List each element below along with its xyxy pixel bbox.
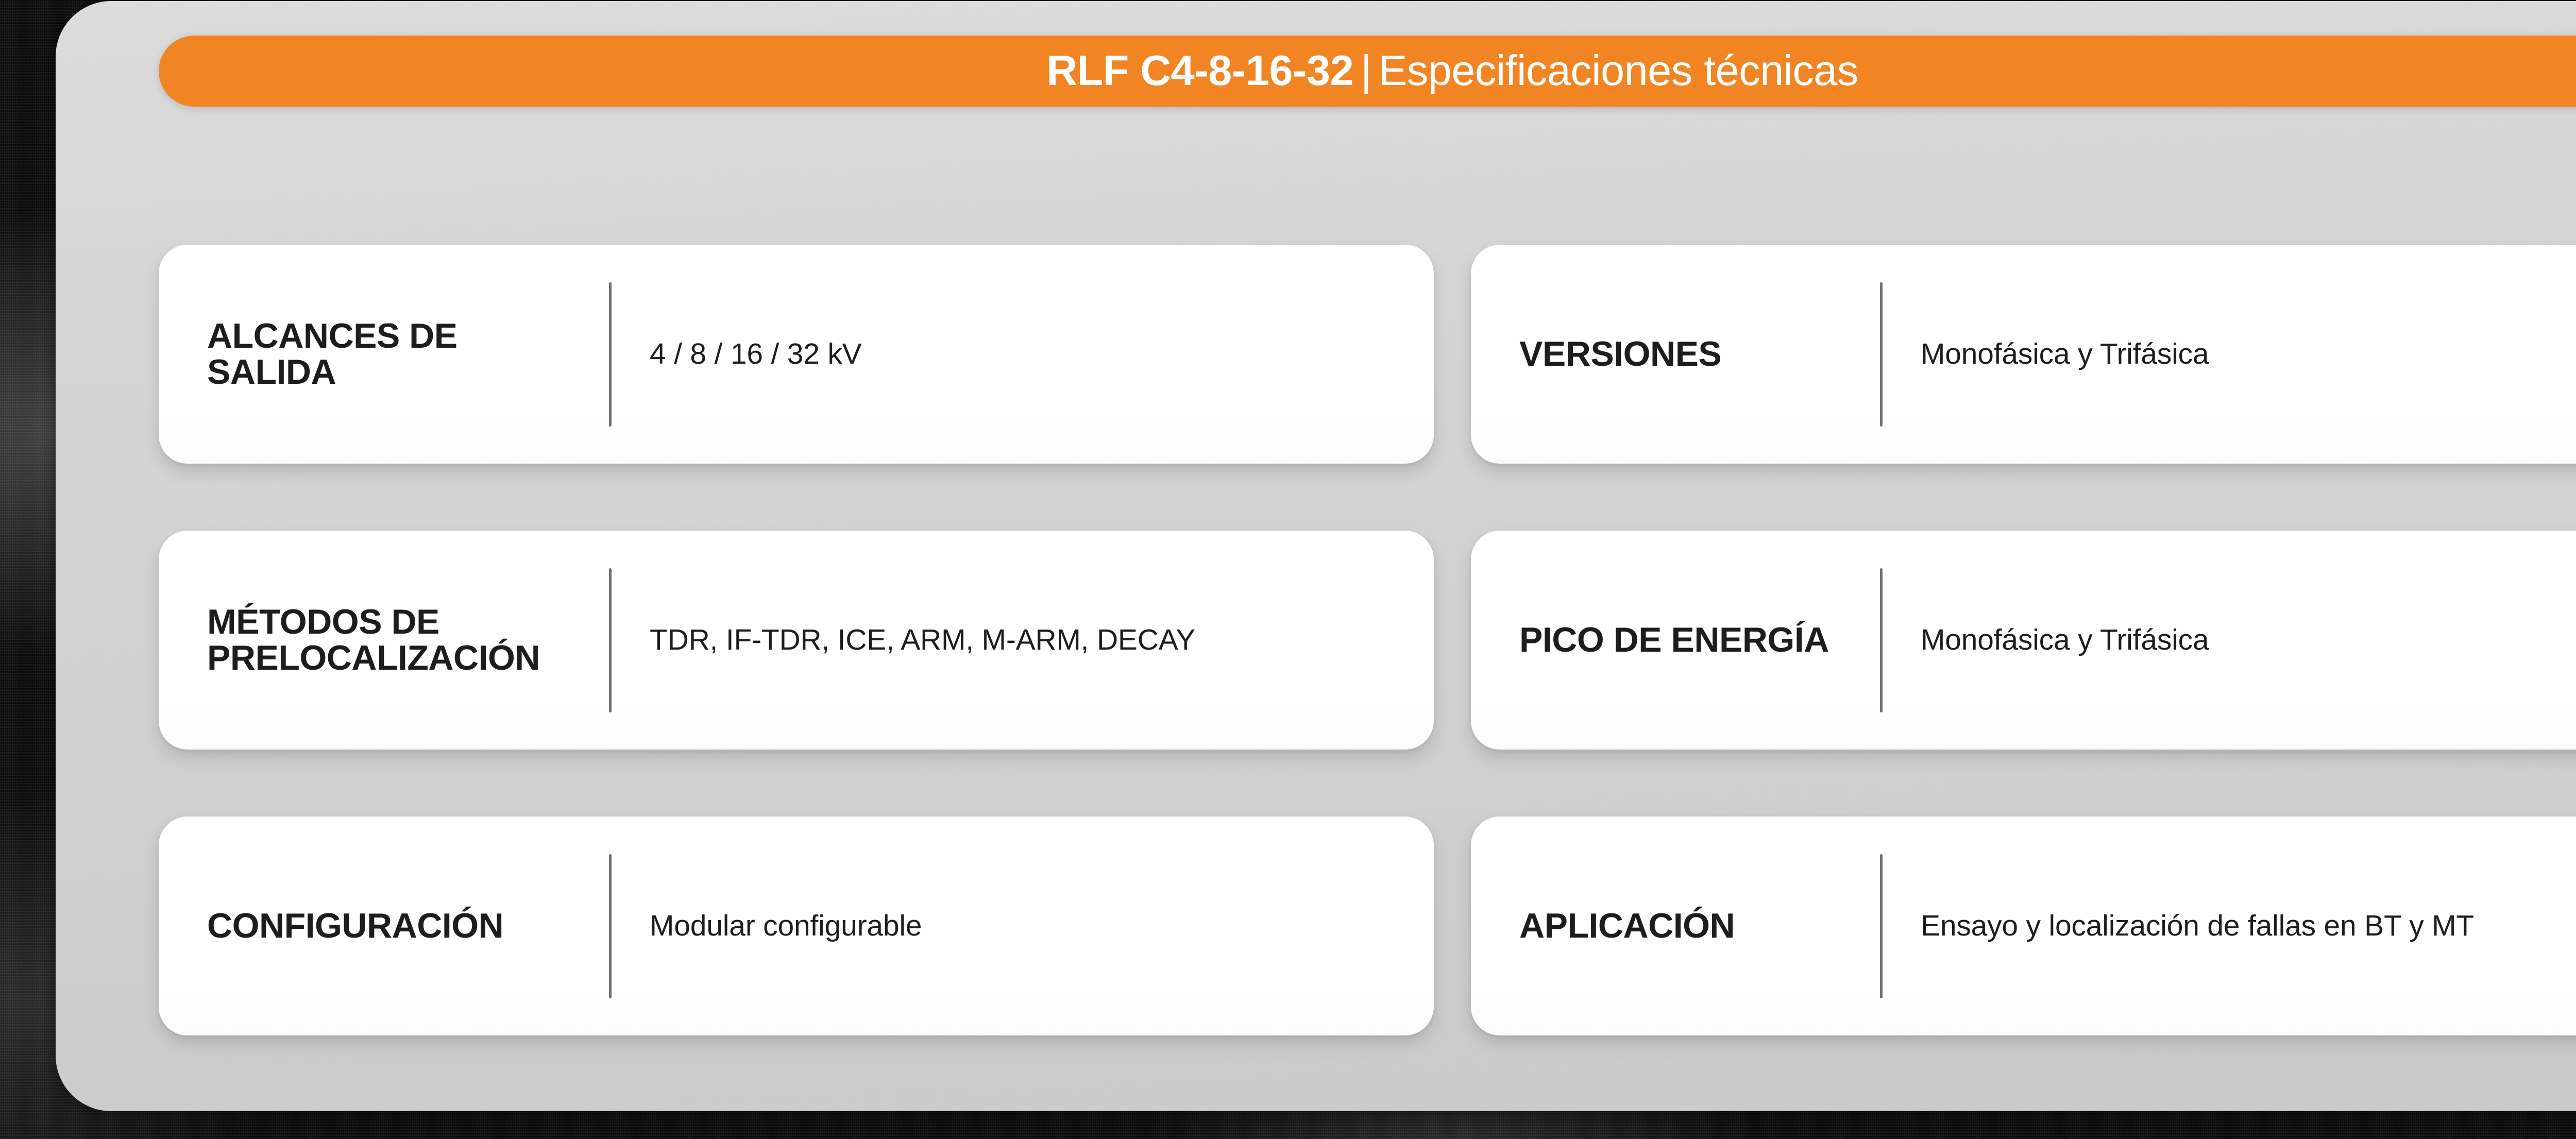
- spec-card-versiones: VERSIONES Monofásica y Trifásica: [1471, 245, 2576, 464]
- spec-value: TDR, IF-TDR, ICE, ARM, M-ARM, DECAY: [612, 623, 1434, 657]
- spec-card-alcances-de-salida: ALCANCES DE SALIDA 4 / 8 / 16 / 32 kV: [159, 245, 1434, 464]
- spec-value: Modular configurable: [612, 909, 1434, 943]
- spec-value: Monofásica y Trifásica: [1883, 623, 2576, 657]
- spec-label: PICO DE ENERGÍA: [1519, 622, 1880, 658]
- spec-label: CONFIGURACIÓN: [207, 908, 609, 944]
- spec-value: 4 / 8 / 16 / 32 kV: [612, 337, 1434, 371]
- spec-label: MÉTODOS DE PRELOCALIZACIÓN: [207, 604, 609, 676]
- spec-label: ALCANCES DE SALIDA: [207, 318, 609, 390]
- spec-card-metodos-de-prelocalizacion: MÉTODOS DE PRELOCALIZACIÓN TDR, IF-TDR, …: [159, 531, 1434, 750]
- spec-value: Ensayo y localización de fallas en BT y …: [1883, 909, 2576, 943]
- spec-label: APLICACIÓN: [1519, 908, 1880, 944]
- spec-card-configuracion: CONFIGURACIÓN Modular configurable: [159, 817, 1434, 1035]
- specifications-panel: RLF C4-8-16-32|Especificaciones técnicas…: [56, 1, 2576, 1111]
- header-bar: RLF C4-8-16-32|Especificaciones técnicas: [159, 36, 2576, 107]
- spec-label: VERSIONES: [1519, 336, 1880, 372]
- spec-card-grid: ALCANCES DE SALIDA 4 / 8 / 16 / 32 kV VE…: [159, 245, 2576, 1035]
- spec-card-pico-de-energia: PICO DE ENERGÍA Monofásica y Trifásica: [1471, 531, 2576, 750]
- spec-value: Monofásica y Trifásica: [1883, 337, 2576, 371]
- product-model: RLF C4-8-16-32: [1046, 46, 1353, 94]
- spec-card-aplicacion: APLICACIÓN Ensayo y localización de fall…: [1471, 817, 2576, 1035]
- page-title: RLF C4-8-16-32|Especificaciones técnicas: [1046, 49, 1858, 92]
- title-subtitle: Especificaciones técnicas: [1379, 46, 1858, 94]
- title-separator: |: [1353, 46, 1379, 94]
